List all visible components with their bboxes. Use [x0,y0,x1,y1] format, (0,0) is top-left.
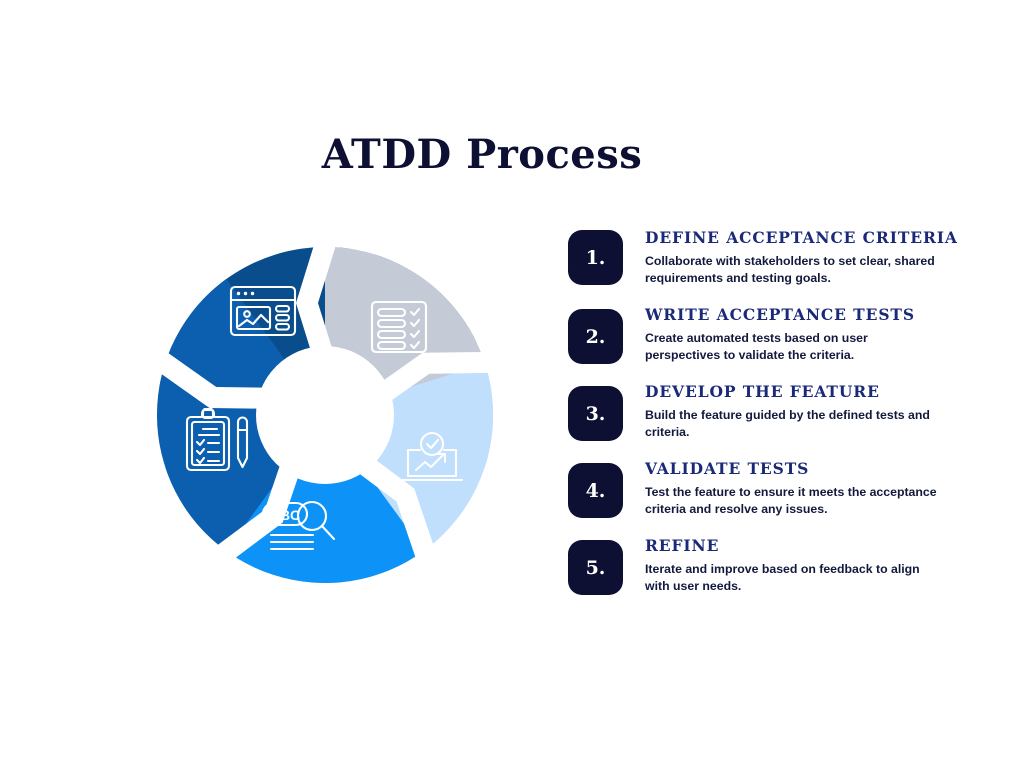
infographic-canvas: ATDD Process [0,0,1024,768]
step-number-badge-2: 2. [568,309,623,364]
step-text-5: REFINE Iterate and improve based on feed… [623,534,968,594]
step-text-3: DEVELOP THE FEATURE Build the feature gu… [623,380,968,440]
step-item-2[interactable]: 2. WRITE ACCEPTANCE TESTS Create automat… [568,303,968,364]
wheel-center-hole [256,346,394,484]
step-description-1: Collaborate with stakeholders to set cle… [645,253,945,286]
steps-list: 1. DEFINE ACCEPTANCE CRITERIA Collaborat… [568,226,968,612]
step-description-5: Iterate and improve based on feedback to… [645,561,945,594]
step-text-4: VALIDATE TESTS Test the feature to ensur… [623,457,968,517]
step-number-badge-1: 1. [568,230,623,285]
page-title: ATDD Process [0,131,964,179]
step-description-3: Build the feature guided by the defined … [645,407,945,440]
step-item-5[interactable]: 5. REFINE Iterate and improve based on f… [568,534,968,595]
step-number-badge-3: 3. [568,386,623,441]
step-heading-3: DEVELOP THE FEATURE [645,382,968,402]
process-wheel-diagram: ABC [155,245,495,585]
step-heading-5: REFINE [645,536,968,556]
step-heading-1: DEFINE ACCEPTANCE CRITERIA [645,228,968,248]
step-number-badge-4: 4. [568,463,623,518]
step-item-3[interactable]: 3. DEVELOP THE FEATURE Build the feature… [568,380,968,441]
step-description-4: Test the feature to ensure it meets the … [645,484,945,517]
step-text-2: WRITE ACCEPTANCE TESTS Create automated … [623,303,968,363]
step-item-4[interactable]: 4. VALIDATE TESTS Test the feature to en… [568,457,968,518]
step-heading-2: WRITE ACCEPTANCE TESTS [645,305,968,325]
step-description-2: Create automated tests based on user per… [645,330,945,363]
step-number-badge-5: 5. [568,540,623,595]
step-text-1: DEFINE ACCEPTANCE CRITERIA Collaborate w… [623,226,968,286]
step-item-1[interactable]: 1. DEFINE ACCEPTANCE CRITERIA Collaborat… [568,226,968,286]
step-heading-4: VALIDATE TESTS [645,459,968,479]
